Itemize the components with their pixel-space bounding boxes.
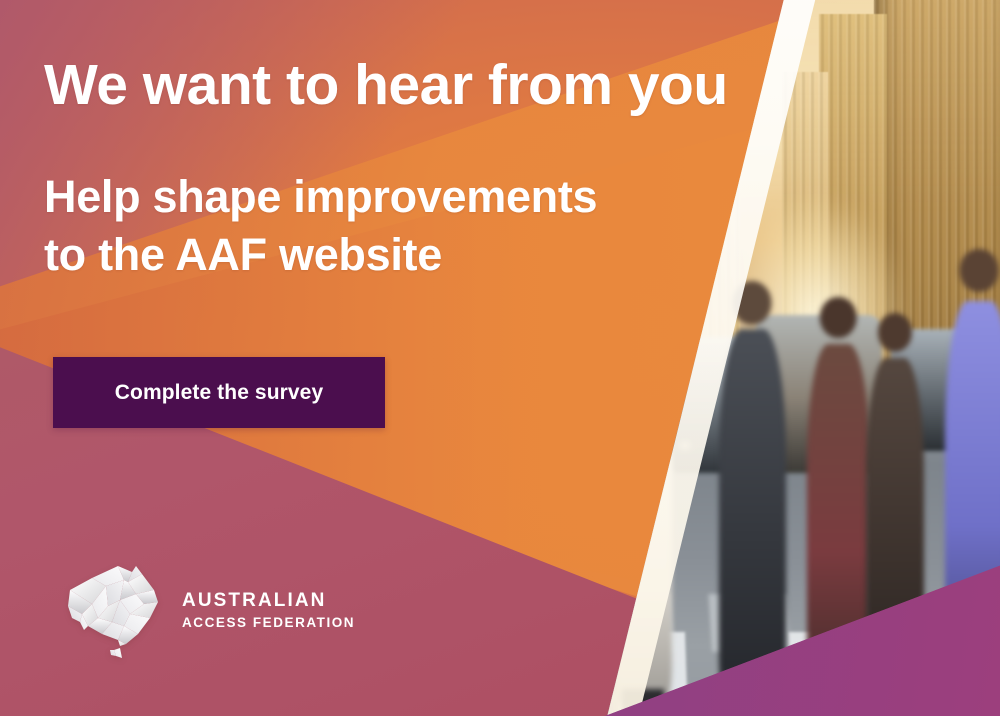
banner-subheadline: Help shape improvements to the AAF websi…: [44, 168, 597, 283]
aaf-logo: AUSTRALIAN ACCESS FEDERATION: [62, 556, 355, 660]
banner-content: We want to hear from you Help shape impr…: [0, 0, 1000, 716]
logo-line-australian: AUSTRALIAN: [182, 591, 355, 610]
cta-button-label: Complete the survey: [115, 381, 323, 405]
complete-survey-button[interactable]: Complete the survey: [53, 357, 385, 428]
banner-headline: We want to hear from you: [44, 56, 728, 115]
australia-map-icon: [62, 556, 168, 660]
subheadline-line-1: Help shape improvements: [44, 168, 597, 226]
promo-banner: We want to hear from you Help shape impr…: [0, 0, 1000, 716]
logo-line-access-federation: ACCESS FEDERATION: [182, 616, 355, 630]
logo-wordmark: AUSTRALIAN ACCESS FEDERATION: [182, 587, 355, 630]
subheadline-line-2: to the AAF website: [44, 226, 597, 284]
